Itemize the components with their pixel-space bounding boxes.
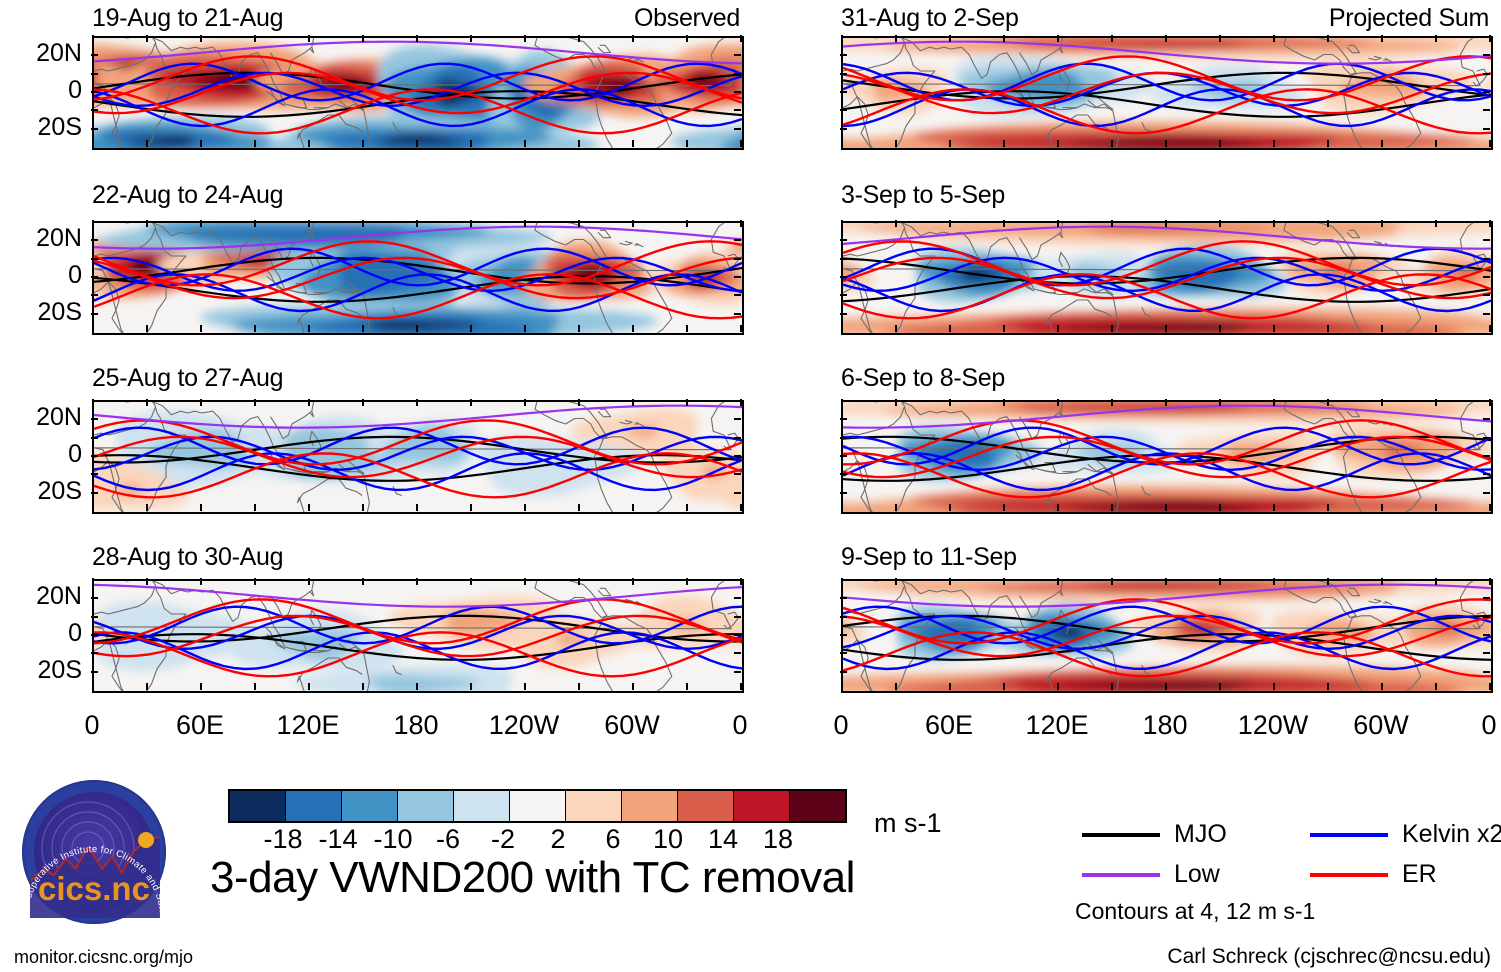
x-tick-mark: [1111, 399, 1113, 406]
legend-swatch-line: [1082, 873, 1160, 877]
y-tick-label: 20N: [2, 226, 82, 251]
x-axis-tick-label: 120W: [1223, 712, 1323, 739]
colorbar-units: m s-1: [874, 810, 942, 837]
y-tick-mark: [91, 652, 98, 654]
x-tick-mark: [524, 399, 526, 406]
legend-label: Kelvin x2: [1402, 822, 1501, 847]
y-tick-mark: [91, 313, 98, 315]
x-tick-mark: [92, 683, 94, 690]
x-tick-mark: [1327, 578, 1329, 585]
x-tick-mark: [1489, 399, 1491, 406]
x-tick-mark: [308, 683, 310, 690]
x-tick-mark: [1003, 220, 1005, 227]
x-tick-mark: [362, 140, 364, 147]
x-tick-mark: [1489, 683, 1491, 690]
y-tick-mark: [840, 492, 847, 494]
x-tick-mark: [200, 35, 202, 42]
x-tick-mark: [308, 325, 310, 332]
x-tick-mark: [416, 35, 418, 42]
x-tick-mark: [1057, 220, 1059, 227]
x-tick-mark: [1273, 220, 1275, 227]
y-tick-mark: [1483, 473, 1490, 475]
x-tick-mark: [1057, 578, 1059, 585]
legend-label: MJO: [1174, 822, 1227, 847]
x-tick-mark: [146, 35, 148, 42]
x-tick-mark: [1111, 220, 1113, 227]
x-tick-mark: [1381, 399, 1383, 406]
x-tick-mark: [362, 504, 364, 511]
x-tick-mark: [949, 35, 951, 42]
x-tick-mark: [686, 399, 688, 406]
x-tick-mark: [1435, 35, 1437, 42]
x-tick-mark: [254, 504, 256, 511]
x-tick-mark: [1273, 504, 1275, 511]
x-tick-mark: [146, 140, 148, 147]
x-tick-mark: [1219, 140, 1221, 147]
y-tick-mark: [1483, 128, 1490, 130]
y-tick-mark: [91, 437, 98, 439]
map-panel-proj-2[interactable]: [841, 221, 1493, 335]
y-tick-mark: [1483, 54, 1490, 56]
x-tick-mark: [740, 683, 742, 690]
x-tick-mark: [632, 140, 634, 147]
x-tick-mark: [1003, 140, 1005, 147]
x-tick-mark: [1165, 220, 1167, 227]
x-tick-mark: [686, 504, 688, 511]
x-tick-mark: [92, 325, 94, 332]
y-tick-mark: [840, 671, 847, 673]
y-tick-mark: [734, 437, 741, 439]
x-tick-mark: [1435, 504, 1437, 511]
x-tick-mark: [362, 220, 364, 227]
x-tick-mark: [362, 35, 364, 42]
x-tick-mark: [1273, 325, 1275, 332]
x-tick-mark: [1219, 220, 1221, 227]
y-tick-mark: [1483, 294, 1490, 296]
x-tick-mark: [470, 140, 472, 147]
x-tick-mark: [416, 399, 418, 406]
y-tick-mark: [1483, 73, 1490, 75]
legend-label: Low: [1174, 862, 1220, 887]
legend-swatch-line: [1310, 833, 1388, 837]
legend-swatch-line: [1082, 833, 1160, 837]
map-panel-obs-4[interactable]: [92, 579, 744, 693]
x-tick-mark: [740, 578, 742, 585]
x-axis-tick-label: 0: [791, 712, 891, 739]
x-tick-mark: [841, 140, 843, 147]
x-tick-mark: [470, 399, 472, 406]
x-tick-mark: [1003, 35, 1005, 42]
x-tick-mark: [92, 578, 94, 585]
y-tick-mark: [734, 473, 741, 475]
x-tick-mark: [470, 325, 472, 332]
x-tick-mark: [632, 325, 634, 332]
y-tick-mark: [734, 652, 741, 654]
map-panel-obs-3[interactable]: [92, 400, 744, 514]
x-tick-mark: [1327, 140, 1329, 147]
x-tick-mark: [200, 220, 202, 227]
x-tick-mark: [1165, 140, 1167, 147]
colorbar-swatch: [230, 791, 286, 821]
map-panel-proj-4[interactable]: [841, 579, 1493, 693]
x-axis-tick-label: 0: [42, 712, 142, 739]
x-tick-mark: [895, 220, 897, 227]
x-tick-mark: [895, 140, 897, 147]
x-tick-mark: [1381, 504, 1383, 511]
x-tick-mark: [686, 683, 688, 690]
colorbar-swatch: [734, 791, 790, 821]
panel-title-obs-3: 25-Aug to 27-Aug: [92, 366, 283, 391]
y-tick-mark: [1483, 652, 1490, 654]
column-header-left: Observed: [92, 6, 740, 31]
x-tick-mark: [1435, 140, 1437, 147]
y-tick-mark: [91, 109, 98, 111]
x-tick-mark: [1219, 35, 1221, 42]
x-tick-mark: [1435, 578, 1437, 585]
y-tick-mark: [840, 109, 847, 111]
x-tick-mark: [92, 140, 94, 147]
y-tick-mark: [840, 652, 847, 654]
x-tick-mark: [308, 399, 310, 406]
x-tick-mark: [686, 325, 688, 332]
y-tick-mark: [840, 455, 847, 457]
x-tick-mark: [895, 578, 897, 585]
x-tick-mark: [1111, 504, 1113, 511]
x-tick-mark: [1327, 399, 1329, 406]
x-tick-mark: [146, 325, 148, 332]
x-tick-mark: [308, 220, 310, 227]
legend-item-mjo[interactable]: MJO: [1082, 822, 1227, 847]
x-tick-mark: [416, 140, 418, 147]
panel-title-obs-4: 28-Aug to 30-Aug: [92, 545, 283, 570]
x-tick-mark: [1165, 325, 1167, 332]
x-axis-tick-label: 0: [1439, 712, 1501, 739]
x-tick-mark: [578, 35, 580, 42]
x-tick-mark: [740, 35, 742, 42]
x-tick-mark: [578, 578, 580, 585]
x-tick-mark: [1435, 220, 1437, 227]
x-tick-mark: [632, 220, 634, 227]
x-tick-mark: [362, 325, 364, 332]
y-tick-mark: [840, 616, 847, 618]
x-tick-mark: [578, 399, 580, 406]
x-tick-mark: [362, 683, 364, 690]
x-tick-mark: [1165, 504, 1167, 511]
x-tick-mark: [92, 35, 94, 42]
y-tick-mark: [734, 54, 741, 56]
x-tick-mark: [254, 399, 256, 406]
y-tick-mark: [1483, 418, 1490, 420]
y-tick-mark: [91, 455, 98, 457]
footer-url[interactable]: monitor.cicsnc.org/mjo: [14, 948, 193, 966]
x-tick-mark: [1273, 683, 1275, 690]
colorbar-swatch: [398, 791, 454, 821]
y-tick-label: 20S: [2, 658, 82, 683]
x-tick-mark: [416, 683, 418, 690]
y-tick-mark: [734, 455, 741, 457]
x-axis-tick-label: 120W: [474, 712, 574, 739]
x-tick-mark: [524, 35, 526, 42]
x-tick-mark: [1003, 578, 1005, 585]
x-tick-mark: [1489, 140, 1491, 147]
x-tick-mark: [200, 578, 202, 585]
y-tick-mark: [840, 128, 847, 130]
y-tick-mark: [1483, 455, 1490, 457]
cicsnc-logo: Cooperative Institute for Climate and Sa…: [14, 778, 174, 926]
x-tick-mark: [254, 140, 256, 147]
y-tick-mark: [840, 634, 847, 636]
svg-text:cics.nc: cics.nc: [38, 870, 150, 907]
x-tick-mark: [146, 683, 148, 690]
legend-note: Contours at 4, 12 m s-1: [1075, 900, 1315, 923]
x-tick-mark: [1003, 399, 1005, 406]
x-tick-mark: [146, 504, 148, 511]
x-axis-tick-label: 60W: [1331, 712, 1431, 739]
x-tick-mark: [1111, 683, 1113, 690]
y-tick-mark: [91, 91, 98, 93]
map-panel-proj-3[interactable]: [841, 400, 1493, 514]
x-tick-mark: [949, 140, 951, 147]
x-tick-mark: [470, 578, 472, 585]
x-tick-mark: [1111, 325, 1113, 332]
x-tick-mark: [1057, 35, 1059, 42]
y-tick-mark: [1483, 492, 1490, 494]
x-tick-mark: [740, 325, 742, 332]
main-title: 3-day VWND200 with TC removal: [210, 856, 855, 900]
x-tick-mark: [1165, 35, 1167, 42]
y-tick-mark: [734, 313, 741, 315]
x-tick-mark: [1057, 504, 1059, 511]
colorbar-swatch: [286, 791, 342, 821]
x-tick-mark: [1273, 399, 1275, 406]
map-panel-obs-1[interactable]: [92, 36, 744, 150]
x-tick-mark: [578, 220, 580, 227]
x-tick-mark: [308, 35, 310, 42]
y-tick-mark: [840, 91, 847, 93]
y-tick-mark: [734, 91, 741, 93]
x-tick-mark: [254, 578, 256, 585]
x-tick-mark: [1435, 399, 1437, 406]
x-tick-mark: [949, 220, 951, 227]
y-tick-mark: [1483, 437, 1490, 439]
colorbar-swatch: [566, 791, 622, 821]
x-tick-mark: [740, 140, 742, 147]
x-tick-mark: [1111, 140, 1113, 147]
x-tick-mark: [740, 399, 742, 406]
x-tick-mark: [895, 683, 897, 690]
x-tick-mark: [949, 504, 951, 511]
y-tick-mark: [734, 73, 741, 75]
footer-author: Carl Schreck (cjschrec@ncsu.edu): [1167, 946, 1491, 967]
x-tick-mark: [841, 325, 843, 332]
map-panel-proj-1[interactable]: [841, 36, 1493, 150]
x-tick-mark: [686, 220, 688, 227]
y-tick-mark: [734, 492, 741, 494]
y-tick-mark: [1483, 597, 1490, 599]
y-tick-mark: [91, 294, 98, 296]
y-tick-mark: [734, 128, 741, 130]
y-tick-mark: [840, 313, 847, 315]
x-tick-mark: [841, 578, 843, 585]
colorbar-swatch: [678, 791, 734, 821]
y-tick-mark: [734, 671, 741, 673]
x-tick-mark: [1057, 140, 1059, 147]
x-tick-mark: [92, 220, 94, 227]
x-tick-mark: [1327, 325, 1329, 332]
colorbar-swatch: [342, 791, 398, 821]
x-tick-mark: [416, 504, 418, 511]
x-tick-mark: [254, 683, 256, 690]
x-tick-mark: [632, 578, 634, 585]
x-tick-mark: [1219, 325, 1221, 332]
x-tick-mark: [416, 578, 418, 585]
x-tick-mark: [895, 325, 897, 332]
legend-item-kelvin-x2[interactable]: Kelvin x2: [1310, 822, 1501, 847]
x-tick-mark: [632, 399, 634, 406]
y-tick-mark: [840, 276, 847, 278]
panel-title-proj-3: 6-Sep to 8-Sep: [841, 366, 1005, 391]
y-tick-mark: [734, 109, 741, 111]
x-tick-mark: [1381, 140, 1383, 147]
y-tick-mark: [91, 492, 98, 494]
x-tick-mark: [578, 504, 580, 511]
x-tick-mark: [1057, 683, 1059, 690]
y-tick-mark: [91, 473, 98, 475]
y-tick-label: 20N: [2, 584, 82, 609]
y-tick-mark: [734, 294, 741, 296]
legend-swatch-line: [1310, 873, 1388, 877]
x-axis-tick-label: 180: [1115, 712, 1215, 739]
x-tick-mark: [1381, 325, 1383, 332]
x-tick-mark: [1327, 683, 1329, 690]
x-tick-mark: [632, 683, 634, 690]
y-tick-mark: [840, 239, 847, 241]
y-tick-label: 20S: [2, 479, 82, 504]
colorbar-swatch: [510, 791, 566, 821]
y-tick-mark: [840, 597, 847, 599]
y-tick-mark: [91, 597, 98, 599]
panel-title-proj-4: 9-Sep to 11-Sep: [841, 545, 1017, 570]
x-tick-mark: [254, 35, 256, 42]
x-tick-mark: [1003, 325, 1005, 332]
x-axis-tick-label: 120E: [1007, 712, 1107, 739]
y-tick-label: 20S: [2, 115, 82, 140]
x-tick-mark: [1435, 325, 1437, 332]
y-tick-mark: [91, 239, 98, 241]
x-tick-mark: [1219, 504, 1221, 511]
x-tick-mark: [841, 683, 843, 690]
x-tick-mark: [1219, 683, 1221, 690]
x-tick-mark: [362, 399, 364, 406]
x-tick-mark: [308, 140, 310, 147]
x-tick-mark: [146, 220, 148, 227]
x-tick-mark: [200, 683, 202, 690]
x-axis-tick-label: 0: [690, 712, 790, 739]
x-tick-mark: [1273, 35, 1275, 42]
y-tick-mark: [1483, 671, 1490, 673]
x-tick-mark: [1057, 325, 1059, 332]
x-tick-mark: [686, 140, 688, 147]
x-tick-mark: [1057, 399, 1059, 406]
x-axis-tick-label: 120E: [258, 712, 358, 739]
y-tick-mark: [1483, 258, 1490, 260]
y-tick-mark: [840, 437, 847, 439]
x-tick-mark: [632, 504, 634, 511]
x-tick-mark: [146, 399, 148, 406]
x-tick-mark: [1489, 325, 1491, 332]
y-tick-mark: [1483, 91, 1490, 93]
legend-item-er[interactable]: ER: [1310, 862, 1437, 887]
x-tick-mark: [1489, 220, 1491, 227]
x-tick-mark: [578, 683, 580, 690]
y-tick-label: 20S: [2, 300, 82, 325]
x-tick-mark: [524, 504, 526, 511]
x-tick-mark: [1165, 578, 1167, 585]
x-tick-mark: [686, 35, 688, 42]
y-tick-mark: [1483, 109, 1490, 111]
x-tick-mark: [1489, 35, 1491, 42]
legend-item-low[interactable]: Low: [1082, 862, 1220, 887]
x-tick-mark: [1111, 578, 1113, 585]
x-tick-mark: [146, 578, 148, 585]
x-axis-tick-label: 60E: [150, 712, 250, 739]
x-tick-mark: [949, 325, 951, 332]
x-tick-mark: [1381, 220, 1383, 227]
x-tick-mark: [949, 683, 951, 690]
y-tick-mark: [1483, 616, 1490, 618]
x-tick-mark: [1111, 35, 1113, 42]
x-tick-mark: [1165, 683, 1167, 690]
x-tick-mark: [1381, 578, 1383, 585]
colorbar-tick-label: 18: [738, 826, 818, 853]
x-tick-mark: [895, 399, 897, 406]
x-tick-mark: [1219, 399, 1221, 406]
colorbar-swatch: [622, 791, 678, 821]
x-tick-mark: [524, 220, 526, 227]
colorbar-swatch: [790, 791, 845, 821]
x-tick-mark: [1165, 399, 1167, 406]
y-tick-mark: [840, 294, 847, 296]
x-tick-mark: [1435, 683, 1437, 690]
y-tick-mark: [734, 239, 741, 241]
x-tick-mark: [524, 325, 526, 332]
x-axis-tick-label: 180: [366, 712, 466, 739]
map-panel-obs-2[interactable]: [92, 221, 744, 335]
y-tick-mark: [91, 128, 98, 130]
x-tick-mark: [686, 578, 688, 585]
y-tick-label: 0: [2, 78, 82, 103]
x-tick-mark: [1489, 578, 1491, 585]
x-tick-mark: [578, 140, 580, 147]
y-tick-label: 0: [2, 442, 82, 467]
y-tick-mark: [91, 276, 98, 278]
x-tick-mark: [308, 578, 310, 585]
x-tick-mark: [92, 399, 94, 406]
y-tick-mark: [91, 54, 98, 56]
y-tick-mark: [91, 418, 98, 420]
x-tick-mark: [632, 35, 634, 42]
x-tick-mark: [1219, 578, 1221, 585]
y-tick-mark: [734, 276, 741, 278]
y-tick-mark: [1483, 634, 1490, 636]
y-tick-mark: [734, 597, 741, 599]
x-tick-mark: [470, 220, 472, 227]
x-tick-mark: [949, 578, 951, 585]
x-tick-mark: [1003, 683, 1005, 690]
y-tick-mark: [91, 616, 98, 618]
x-tick-mark: [841, 35, 843, 42]
x-tick-mark: [1273, 140, 1275, 147]
